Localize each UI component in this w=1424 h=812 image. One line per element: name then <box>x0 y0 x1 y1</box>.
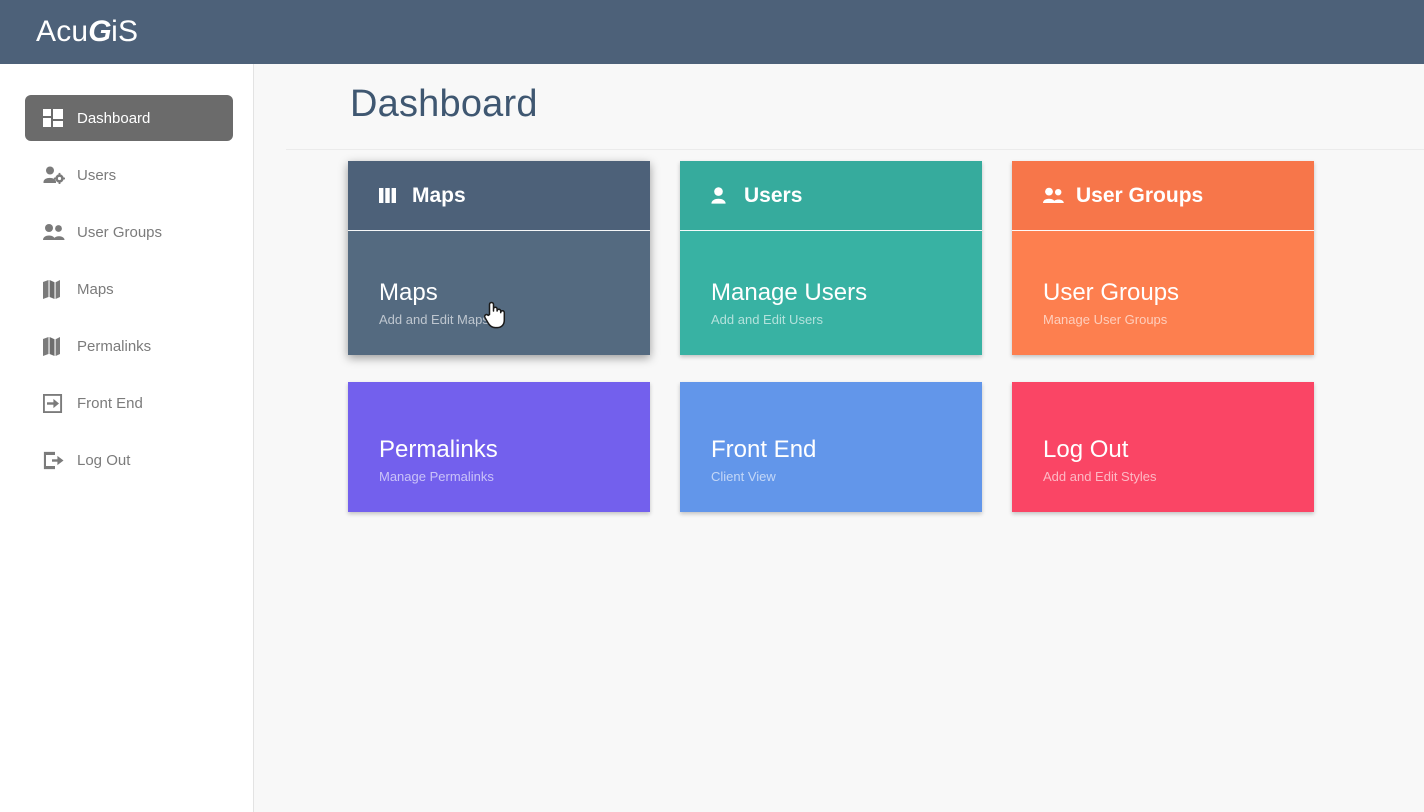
brand-suffix: iS <box>111 15 138 49</box>
card-user-groups[interactable]: User Groups User Groups Manage User Grou… <box>1012 161 1314 355</box>
card-body: Maps Add and Edit Maps <box>348 231 650 355</box>
top-header-bar: AcuGiS <box>0 0 1424 64</box>
card-users[interactable]: Users Manage Users Add and Edit Users <box>680 161 982 355</box>
main-content: Dashboard Maps Maps <box>254 64 1424 812</box>
grid-icon <box>43 108 69 128</box>
sidebar-item-user-groups[interactable]: User Groups <box>25 209 233 255</box>
card-body: Front End Client View <box>680 382 982 512</box>
columns-icon <box>379 187 403 205</box>
card-permalinks[interactable]: Permalinks Manage Permalinks <box>348 382 650 512</box>
page-title: Dashboard <box>350 83 538 126</box>
sidebar-item-label: Log Out <box>77 452 130 469</box>
card-row: Permalinks Manage Permalinks Front End C… <box>348 382 1360 512</box>
card-log-out[interactable]: Log Out Add and Edit Styles <box>1012 382 1314 512</box>
card-subtitle: Client View <box>711 470 951 484</box>
sidebar-item-dashboard[interactable]: Dashboard <box>25 95 233 141</box>
map-icon <box>43 336 69 356</box>
card-subtitle: Add and Edit Users <box>711 313 951 327</box>
card-header: Maps <box>348 161 650 231</box>
user-icon <box>711 187 735 205</box>
card-subtitle: Manage Permalinks <box>379 470 619 484</box>
users-icon <box>43 222 69 242</box>
card-maps[interactable]: Maps Maps Add and Edit Maps <box>348 161 650 355</box>
dashboard-card-grid: Maps Maps Add and Edit Maps Users <box>348 161 1360 539</box>
sign-in-icon <box>43 393 69 413</box>
card-title: User Groups <box>1043 280 1283 305</box>
card-title: Log Out <box>1043 437 1283 462</box>
sidebar-item-maps[interactable]: Maps <box>25 266 233 312</box>
card-header: User Groups <box>1012 161 1314 231</box>
card-title: Front End <box>711 437 951 462</box>
sidebar-item-front-end[interactable]: Front End <box>25 380 233 426</box>
card-header-label: User Groups <box>1076 184 1203 208</box>
card-body: Manage Users Add and Edit Users <box>680 231 982 355</box>
card-body: Permalinks Manage Permalinks <box>348 382 650 512</box>
user-gear-icon <box>43 165 69 185</box>
card-front-end[interactable]: Front End Client View <box>680 382 982 512</box>
sidebar-nav: Dashboard Users User G <box>0 64 254 812</box>
card-header-label: Users <box>744 184 802 208</box>
sign-out-icon <box>43 450 69 470</box>
title-divider <box>286 149 1424 150</box>
sidebar-item-label: Maps <box>77 281 114 298</box>
sidebar-item-label: Dashboard <box>77 110 150 127</box>
card-row: Maps Maps Add and Edit Maps Users <box>348 161 1360 355</box>
sidebar-item-users[interactable]: Users <box>25 152 233 198</box>
users-icon <box>1043 187 1067 205</box>
card-title: Maps <box>379 280 619 305</box>
card-title: Manage Users <box>711 280 951 305</box>
sidebar-item-log-out[interactable]: Log Out <box>25 437 233 483</box>
card-header: Users <box>680 161 982 231</box>
sidebar-item-label: Users <box>77 167 116 184</box>
sidebar-item-label: Front End <box>77 395 143 412</box>
sidebar-item-label: Permalinks <box>77 338 151 355</box>
brand-prefix: Acu <box>36 15 88 49</box>
card-header-label: Maps <box>412 184 466 208</box>
sidebar-item-label: User Groups <box>77 224 162 241</box>
sidebar-item-permalinks[interactable]: Permalinks <box>25 323 233 369</box>
map-icon <box>43 279 69 299</box>
card-body: User Groups Manage User Groups <box>1012 231 1314 355</box>
brand-accent-letter: G <box>88 15 111 49</box>
card-subtitle: Manage User Groups <box>1043 313 1283 327</box>
card-subtitle: Add and Edit Maps <box>379 313 619 327</box>
card-body: Log Out Add and Edit Styles <box>1012 382 1314 512</box>
brand-logo[interactable]: AcuGiS <box>36 15 138 49</box>
card-title: Permalinks <box>379 437 619 462</box>
card-subtitle: Add and Edit Styles <box>1043 470 1283 484</box>
